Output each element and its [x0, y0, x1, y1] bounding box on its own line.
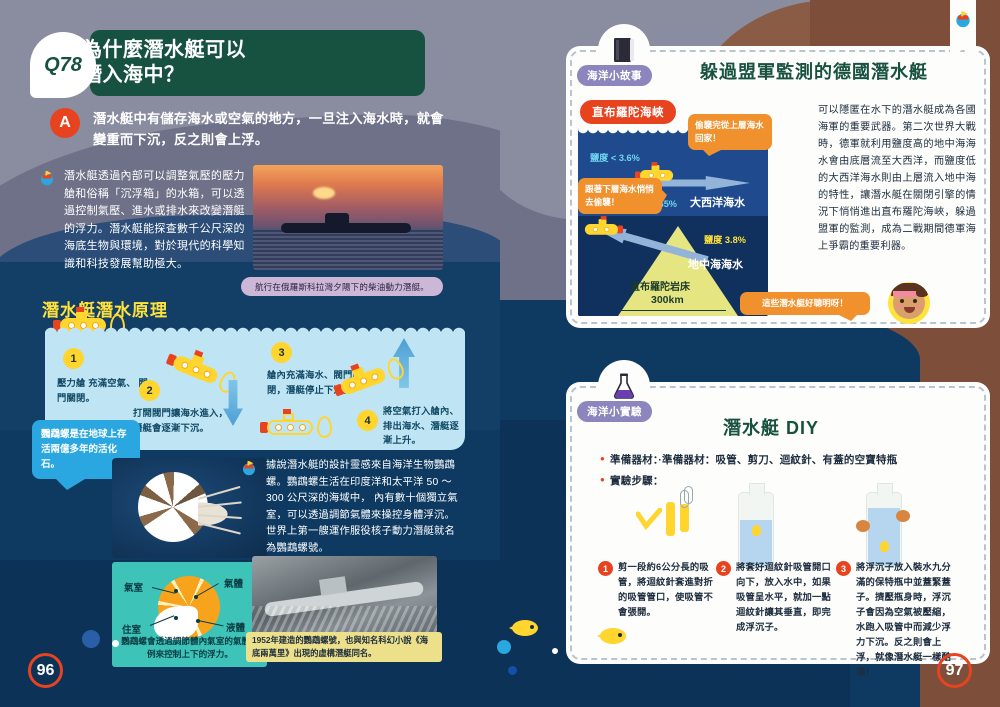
leader-dot-1 — [174, 589, 178, 593]
question-number-label: Q78 — [44, 54, 82, 77]
diy-step-2-number: 2 — [716, 561, 731, 576]
nautilus-anatomy-diagram: 氣室 氣體 住室 液體 鸚鵡螺會透過調節體內氣室的氣體比例來控制上下的浮力。 — [112, 562, 267, 667]
diy-step-2-text: 將套好迴紋針吸管開口向下，放入水中，如果吸管呈水平，就加一點迴紋針讓其垂直，即完… — [736, 560, 832, 635]
step-4-text: 將空氣打入艙內、排出海水、潛艇逐漸上升。 — [383, 404, 459, 448]
diy-steps-bullet: 實驗步驟： — [600, 473, 664, 488]
label-gas: 氣體 — [224, 576, 243, 590]
boat-icon-2 — [240, 458, 258, 476]
left-page: 為什麼潛水艇可以 潛入海中？ Q78 A 潛水艇中有儲存海水或空氣的地方，一旦注… — [0, 0, 500, 707]
nautilus-submarine-photo — [252, 556, 437, 634]
diy-step-3-text: 將浮沉子放入裝水九分滿的保特瓶中並蓋緊蓋子。擠壓瓶身時，浮沉子會因為空氣被壓縮，… — [856, 560, 952, 680]
answer-text: 潛水艇中有儲存海水或空氣的地方，一旦注入海水時，就會變重而下沉，反之則會上浮。 — [93, 108, 445, 150]
diy-step-1: 1 剪一段約6公分長的吸管，將迴紋針套進對折的吸管管口，使吸管不會張開。 — [598, 560, 714, 620]
nautilus-text: 據說潛水艇的設計靈感來自海洋生物鸚鵡螺。鸚鵡螺生活在印度洋和太平洋 50 ～ 3… — [266, 458, 458, 558]
diy-step-2: 2 將套好迴紋針吸管開口向下，放入水中，如果吸管呈水平，就加一點迴紋針讓其垂直，… — [716, 560, 832, 635]
bubble-sneak-attack: 跟著下層海水悄悄去偷襲！ — [578, 178, 662, 214]
question-number-badge: Q78 — [30, 32, 96, 98]
label-gas-chamber: 氣室 — [124, 580, 143, 594]
bubble-decoration — [112, 640, 119, 647]
cartesian-diver-2 — [880, 541, 889, 552]
photo1-caption: 航行在俄羅斯科拉灣夕陽下的柴油動力潛艇。 — [241, 277, 443, 296]
squeezing-hand-left — [856, 520, 870, 532]
label-liquid: 液體 — [226, 620, 245, 634]
boat-icon — [38, 168, 56, 186]
mediterranean-water-label: 地中海海水 — [688, 256, 743, 272]
photo2-caption: 1952年建造的鸚鵡螺號，也與知名科幻小說《海底兩萬里》出現的虛構潛艇同名。 — [246, 632, 442, 662]
diy-step-1-number: 1 — [598, 561, 613, 576]
question-title-line1: 為什麼潛水艇可以 — [82, 38, 362, 63]
cartesian-diver — [752, 525, 761, 536]
gibraltar-diagram: 鹽度 < 3.6% 鹽度 3.65% 大西洋海水 鹽度 3.8% 地中海海水 直… — [578, 128, 768, 316]
leader-dot-3 — [174, 616, 178, 620]
bubble-kid-comment: 這些潛水艇好聰明呀！ — [740, 292, 870, 315]
story-card-title: 躲過盟軍監測的德國潛水艇 — [700, 58, 928, 84]
bottle-step3 — [866, 492, 902, 568]
ridge-scale-label: 300km — [651, 294, 684, 306]
submarine-sunset-photo — [253, 165, 443, 270]
question-title: 為什麼潛水艇可以 潛入海中？ — [82, 38, 362, 88]
bubble-decoration — [552, 648, 558, 654]
question-header: 為什麼潛水艇可以 潛入海中？ Q78 — [30, 30, 430, 96]
leader-dot-2 — [194, 595, 198, 599]
principle-section-title: 潛水艇潛水原理 — [42, 296, 168, 321]
leader-dot-4 — [196, 619, 200, 623]
squeezing-hand-right — [896, 510, 910, 522]
step-2-number: 2 — [139, 380, 160, 401]
bubble-return-home: 偷襲完從上層海水回家！ — [688, 114, 772, 150]
nautilus-tentacles — [198, 494, 246, 534]
diy-step-3-number: 3 — [836, 561, 851, 576]
book-icon — [611, 36, 637, 64]
bottle-neck-2 — [877, 483, 893, 495]
submarine-wake — [252, 606, 437, 634]
kid-avatar — [888, 282, 930, 324]
diy-step-1-text: 剪一段約6公分長的吸管，將迴紋針套進對折的吸管管口，使吸管不會張開。 — [618, 560, 714, 620]
bubble-decoration — [82, 630, 100, 648]
intro-block: 潛水艇透過內部可以調整氣壓的壓力艙和俗稱「沉浮箱」的水箱，可以透過控制氣壓、進水… — [38, 168, 253, 273]
step-4-number: 4 — [357, 410, 378, 431]
answer-row: A 潛水艇中有儲存海水或空氣的地方，一旦注入海水時，就會變重而下沉，反之則會上浮… — [50, 108, 445, 150]
atlantic-water-label: 大西洋海水 — [690, 194, 745, 210]
intro-text: 潛水艇透過內部可以調整氣壓的壓力艙和俗稱「沉浮箱」的水箱，可以透過控制氣壓、進水… — [64, 168, 253, 273]
experiment-badge-label: 海洋小實驗 — [577, 401, 652, 422]
story-body-text: 可以隱匿在水下的潛水艇成為各國海軍的重要武器。第二次世界大戰時，德軍就利用鹽度高… — [818, 102, 976, 255]
diy-card-title: 潛水艇 DIY — [723, 414, 819, 440]
bottle-neck — [749, 483, 765, 495]
bottle-step2 — [738, 492, 774, 568]
submarine-conning-tower — [325, 213, 349, 225]
bubble-decoration — [497, 640, 511, 654]
page-number-left: 96 — [28, 653, 63, 688]
answer-badge: A — [50, 108, 80, 138]
salinity-surface-label: 鹽度 < 3.6% — [590, 150, 640, 164]
step-1-text: 壓力艙 充滿空氣、 閥門關閉。 — [57, 376, 151, 405]
sun-glow — [313, 187, 335, 199]
scale-bar — [620, 310, 726, 311]
diy-materials-bullet: 準備器材：·準備器材：吸管、剪刀、迴紋針、有蓋的空寶特瓶 — [600, 452, 897, 467]
step-3-number: 3 — [271, 342, 292, 363]
page-number-right: 97 — [937, 653, 972, 688]
question-title-line2: 潛入海中？ — [82, 63, 362, 88]
nautilus-text-block: 據說潛水艇的設計靈感來自海洋生物鸚鵡螺。鸚鵡螺生活在印度洋和太平洋 50 ～ 3… — [240, 458, 458, 558]
ridge-label: 直布羅陀岩床 — [630, 278, 690, 293]
story-badge-label: 海洋小故事 — [577, 65, 652, 86]
label-living-chamber: 住室 — [122, 622, 141, 636]
illustration-check — [636, 508, 662, 535]
submarine-boat-icon — [953, 8, 973, 28]
diy-step-3: 3 將浮沉子放入裝水九分滿的保特瓶中並蓋緊蓋子。擠壓瓶身時，浮沉子會因為空氣被壓… — [836, 560, 952, 680]
strait-tag: 直布羅陀海峽 — [580, 100, 676, 124]
bubble-decoration — [508, 666, 517, 675]
step-2-text: 打開閥門讓海水進入，潛艇會逐漸下沉。 — [133, 406, 235, 435]
straw-piece — [666, 502, 675, 536]
water-surface — [253, 228, 443, 270]
step-1-number: 1 — [63, 348, 84, 369]
salinity-med-label: 鹽度 3.8% — [704, 232, 746, 246]
nautilus-diagram-caption: 鸚鵡螺會透過調節體內氣室的氣體比例來控制上下的浮力。 — [120, 635, 260, 661]
flask-icon — [611, 372, 637, 400]
